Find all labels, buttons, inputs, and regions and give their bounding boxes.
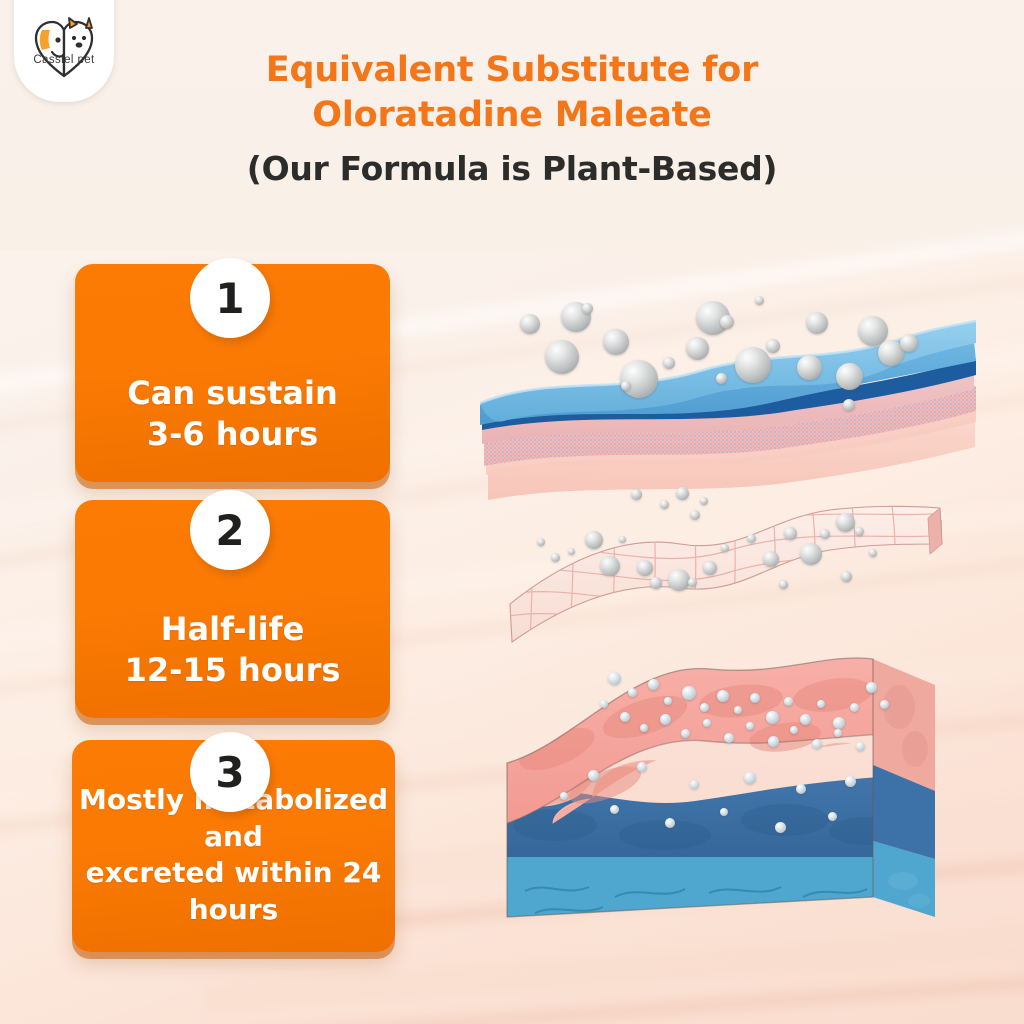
- molecule-sphere: [717, 690, 729, 702]
- molecule-sphere: [866, 682, 877, 693]
- molecule-sphere: [850, 703, 859, 712]
- header-block: Equivalent Substitute for Oloratadine Ma…: [0, 48, 1024, 194]
- molecule-sphere: [817, 700, 825, 708]
- molecule-sphere: [660, 714, 671, 725]
- molecule-sphere: [828, 812, 837, 821]
- molecule-sphere: [703, 719, 711, 727]
- molecule-sphere: [747, 534, 756, 543]
- illustration-skin-surface-layer: [470, 255, 990, 520]
- molecule-sphere: [763, 551, 779, 567]
- molecule-sphere: [855, 527, 864, 536]
- molecule-sphere: [806, 312, 828, 334]
- molecule-sphere: [790, 726, 798, 734]
- molecule-sphere: [784, 527, 797, 540]
- molecule-sphere: [800, 714, 811, 725]
- molecule-sphere: [537, 538, 545, 546]
- molecule-sphere: [690, 780, 699, 789]
- molecule-sphere: [620, 360, 658, 398]
- molecule-sphere: [676, 487, 689, 500]
- info-card-2-badge: 2: [190, 490, 270, 570]
- molecule-sphere: [620, 712, 630, 722]
- molecule-sphere: [668, 569, 690, 591]
- molecule-sphere: [744, 772, 756, 784]
- molecule-sphere: [820, 529, 830, 539]
- molecule-sphere: [796, 784, 806, 794]
- molecule-sphere: [841, 571, 852, 582]
- molecule-sphere: [690, 510, 700, 520]
- molecule-sphere: [560, 792, 568, 800]
- molecule-sphere: [648, 679, 659, 690]
- molecule-sphere: [755, 296, 764, 305]
- molecule-sphere: [768, 736, 779, 747]
- molecule-sphere: [775, 822, 786, 833]
- molecule-sphere: [721, 544, 729, 552]
- molecule-sphere: [688, 578, 697, 587]
- molecule-sphere: [551, 553, 560, 562]
- molecule-sphere: [640, 724, 648, 732]
- molecule-sphere: [603, 329, 629, 355]
- molecule-sphere: [568, 548, 575, 555]
- info-card-2-line2: 12-15 hours: [125, 650, 341, 692]
- molecule-sphere: [900, 334, 918, 352]
- molecule-sphere: [582, 303, 593, 314]
- molecule-sphere: [664, 697, 672, 705]
- molecule-sphere: [631, 489, 642, 500]
- molecule-sphere: [700, 497, 708, 505]
- info-card-1-line1: Can sustain: [127, 373, 338, 415]
- molecule-sphere: [734, 706, 742, 714]
- molecule-sphere: [845, 776, 856, 787]
- molecule-sphere: [746, 722, 754, 730]
- molecule-sphere: [665, 818, 675, 828]
- molecule-sphere: [650, 577, 662, 589]
- info-card-1-badge: 1: [190, 258, 270, 338]
- info-card-2-line1: Half-life: [161, 609, 305, 651]
- molecule-sphere: [833, 717, 845, 729]
- molecule-sphere: [834, 729, 842, 737]
- molecule-sphere: [608, 672, 621, 685]
- molecule-sphere: [637, 560, 653, 576]
- info-card-2-number: 2: [215, 506, 244, 555]
- molecule-sphere: [716, 373, 727, 384]
- molecule-sphere: [766, 711, 779, 724]
- molecule-sphere: [660, 500, 669, 509]
- molecule-sphere: [637, 762, 647, 772]
- molecule-sphere: [628, 688, 637, 697]
- molecule-sphere: [663, 357, 675, 369]
- molecule-sphere: [703, 561, 717, 575]
- molecule-sphere: [686, 337, 709, 360]
- molecule-sphere: [766, 339, 780, 353]
- molecule-sphere: [800, 543, 822, 565]
- molecule-sphere: [779, 580, 788, 589]
- info-card-3-badge: 3: [190, 732, 270, 812]
- molecule-sphere: [545, 340, 579, 374]
- molecule-sphere: [812, 739, 822, 749]
- info-card-3-line2: excreted within 24 hours: [72, 855, 395, 928]
- molecule-sphere: [784, 697, 793, 706]
- info-card-3-number: 3: [215, 748, 244, 797]
- page-title-line2: Oloratadine Maleate: [0, 93, 1024, 138]
- page-subtitle: (Our Formula is Plant-Based): [0, 144, 1024, 194]
- molecule-sphere: [600, 700, 608, 708]
- molecule-sphere: [585, 531, 603, 549]
- molecule-sphere: [600, 556, 620, 576]
- molecule-sphere: [720, 808, 728, 816]
- molecule-sphere: [836, 363, 863, 390]
- molecule-sphere: [720, 315, 734, 329]
- info-card-1-number: 1: [215, 274, 244, 323]
- molecule-sphere: [619, 536, 626, 543]
- molecule-sphere: [750, 693, 760, 703]
- molecule-sphere: [797, 355, 822, 380]
- molecule-sphere: [724, 733, 734, 743]
- molecule-sphere: [700, 703, 709, 712]
- page-title-line1: Equivalent Substitute for: [0, 48, 1024, 93]
- molecule-sphere: [735, 347, 771, 383]
- molecule-sphere: [520, 314, 540, 334]
- molecule-sphere: [843, 399, 855, 411]
- molecule-sphere: [682, 686, 696, 700]
- molecule-sphere: [610, 805, 619, 814]
- molecule-sphere: [836, 513, 855, 532]
- molecule-sphere: [621, 381, 631, 391]
- molecule-sphere: [856, 742, 865, 751]
- infographic-canvas: Cassiel pet Equivalent Substitute for Ol…: [0, 0, 1024, 1024]
- info-card-1-line2: 3-6 hours: [147, 414, 318, 456]
- molecule-sphere: [880, 700, 889, 709]
- molecule-sphere: [681, 729, 690, 738]
- molecule-sphere: [588, 770, 599, 781]
- molecule-sphere: [869, 549, 877, 557]
